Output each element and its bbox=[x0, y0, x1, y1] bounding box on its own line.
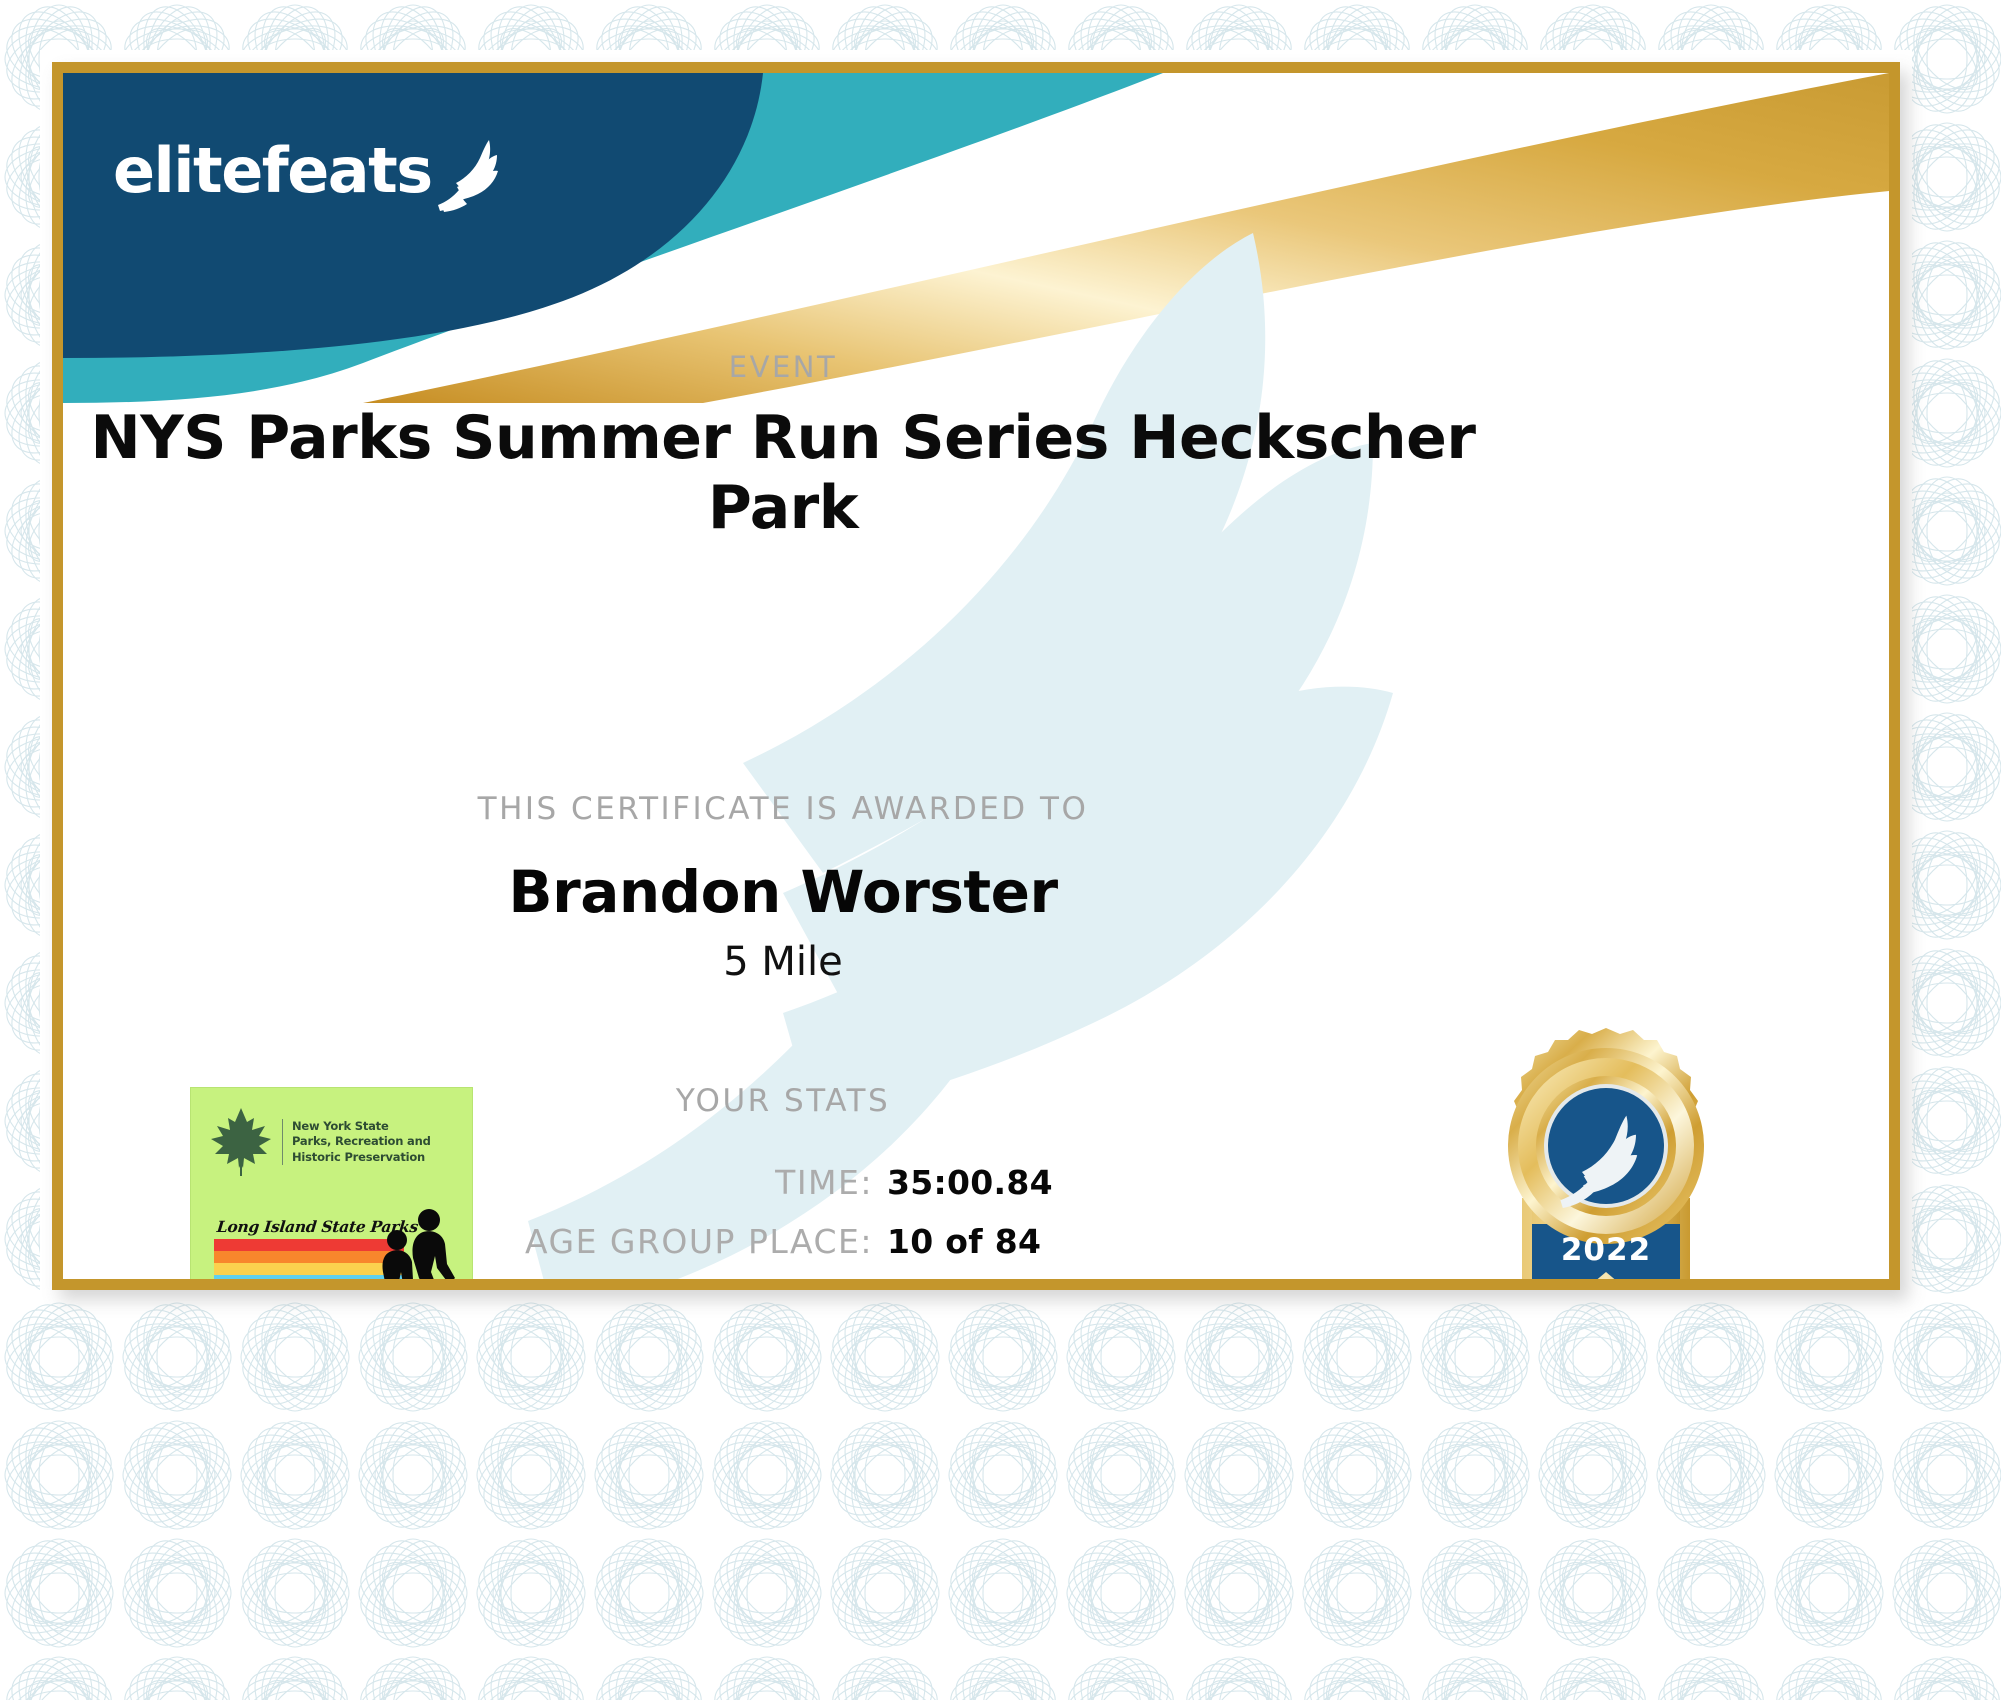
finisher-medal-badge: 2022 FINISHER CERTIFICATE bbox=[1441, 1028, 1771, 1290]
event-distance: 5 Mile bbox=[63, 939, 1503, 985]
certificate-card: elitefeats EVENT NYS Parks Summer Run Se… bbox=[52, 62, 1900, 1290]
awarded-to-label: THIS CERTIFICATE IS AWARDED TO bbox=[63, 791, 1503, 827]
sponsor-logo: New York State Parks, Recreation and His… bbox=[191, 1088, 472, 1290]
nys-agency-text: New York State Parks, Recreation and His… bbox=[282, 1119, 431, 1165]
svg-text:2022: 2022 bbox=[1561, 1232, 1651, 1268]
event-title: NYS Parks Summer Run Series Heckscher Pa… bbox=[63, 403, 1503, 543]
stat-value: 35:00.84 bbox=[873, 1163, 1393, 1202]
nys-parks-agency-lockup: New York State Parks, Recreation and His… bbox=[209, 1106, 431, 1178]
winged-foot-icon bbox=[434, 138, 506, 214]
recipient-name: Brandon Worster bbox=[63, 858, 1503, 926]
brand-logo: elitefeats bbox=[113, 128, 506, 214]
medal-graphic: 2022 bbox=[1456, 1028, 1756, 1290]
stat-value: 60 of 1953 bbox=[873, 1281, 1393, 1290]
stat-value: 10 of 84 bbox=[873, 1222, 1393, 1261]
maple-leaf-icon bbox=[209, 1106, 273, 1178]
stat-label: OVERALL PLACE: bbox=[173, 1281, 873, 1290]
event-label: EVENT bbox=[63, 350, 1503, 384]
agency-line-2: Parks, Recreation and bbox=[292, 1134, 431, 1149]
runners-silhouette-icon bbox=[367, 1206, 467, 1290]
brand-wordmark: elitefeats bbox=[113, 140, 432, 202]
agency-line-1: New York State bbox=[292, 1119, 431, 1134]
stat-row-overall-place: OVERALL PLACE: 60 of 1953 bbox=[63, 1281, 1503, 1290]
agency-line-3: Historic Preservation bbox=[292, 1150, 431, 1165]
